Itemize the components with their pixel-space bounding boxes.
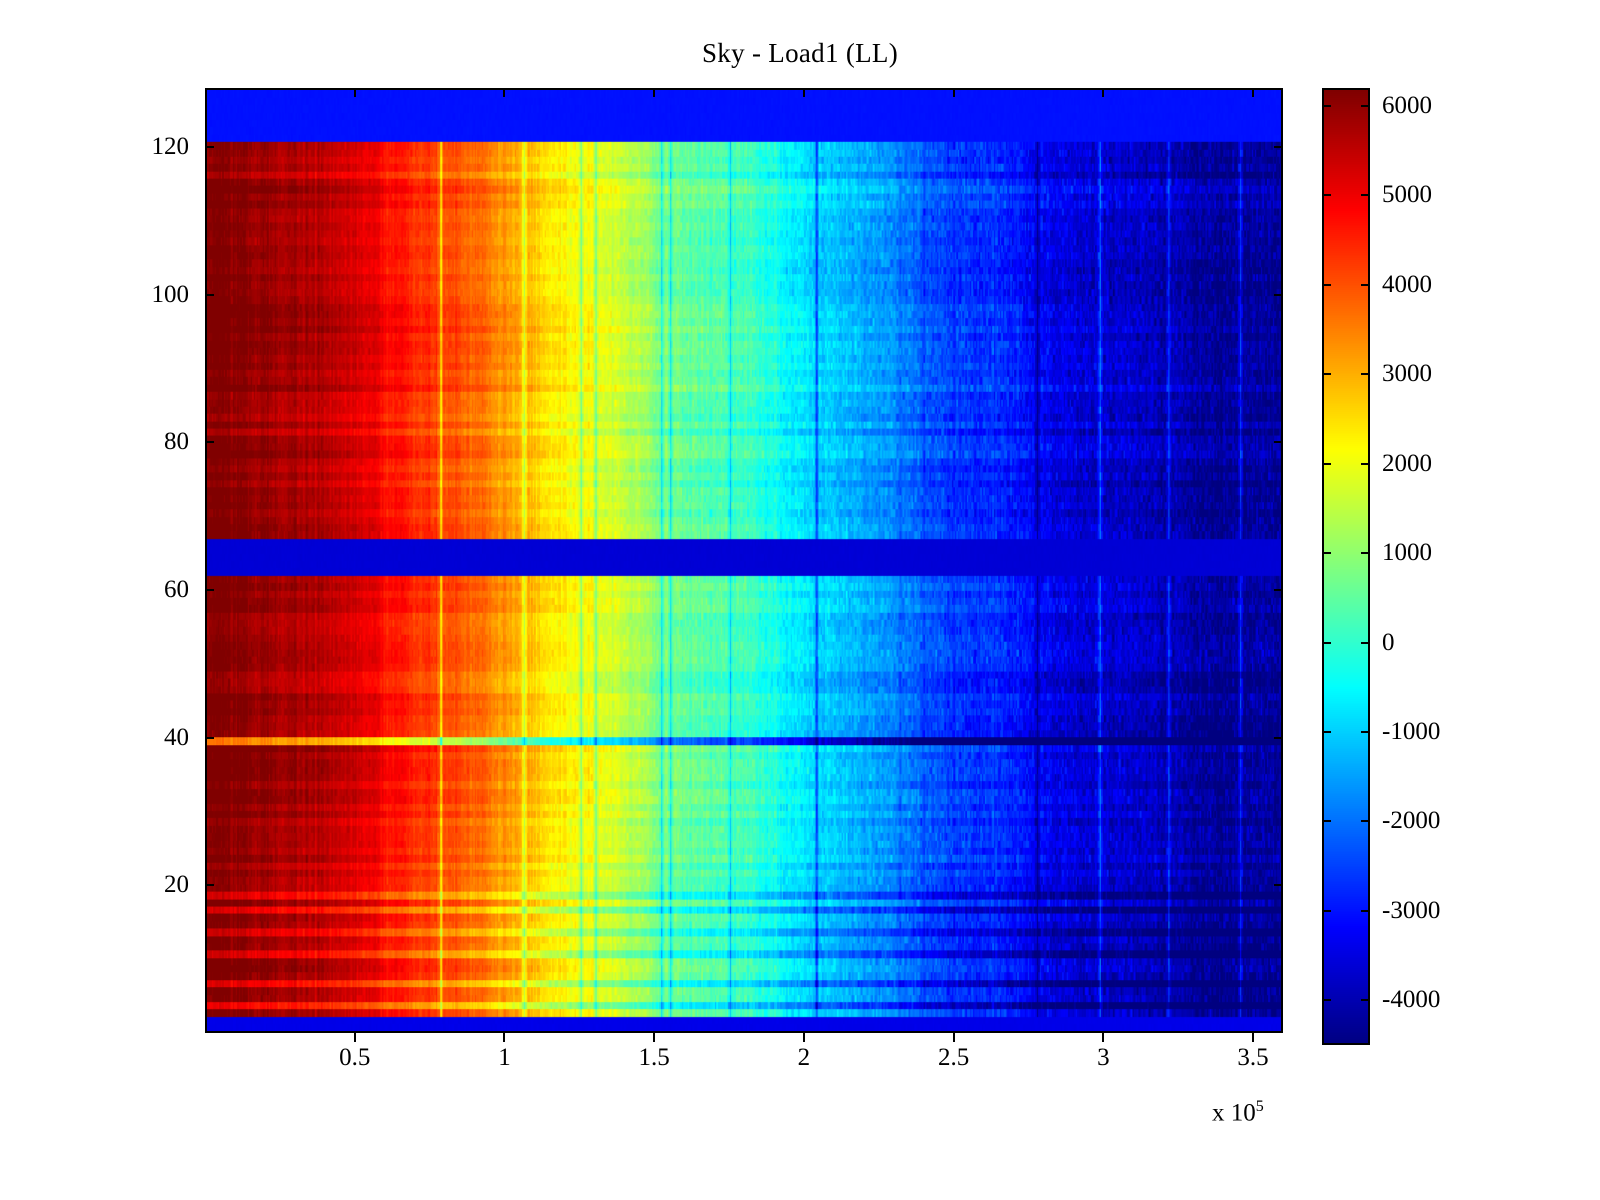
colorbar-tick-mark xyxy=(1322,910,1331,912)
colorbar-tick-label: 3000 xyxy=(1382,360,1432,388)
x-axis-tick-label: 2 xyxy=(744,1044,864,1072)
colorbar-tick-mark xyxy=(1322,194,1331,196)
colorbar-tick-label: -2000 xyxy=(1382,807,1440,835)
colorbar-tick-mark-right xyxy=(1361,373,1370,375)
y-axis-tick-label: 40 xyxy=(125,724,189,752)
y-axis-tick-label: 20 xyxy=(125,871,189,899)
x-axis-tick-label: 3.5 xyxy=(1193,1044,1313,1072)
colorbar-tick-label: 0 xyxy=(1382,629,1395,657)
y-axis-tick-mark-right xyxy=(1274,884,1283,886)
colorbar-tick-mark-right xyxy=(1361,731,1370,733)
y-axis-tick-mark xyxy=(205,441,214,443)
colorbar-tick-mark-right xyxy=(1361,999,1370,1001)
x-axis-tick-mark-top xyxy=(503,88,505,97)
colorbar-tick-mark-right xyxy=(1361,642,1370,644)
x-axis-exponent: x 105 xyxy=(1212,1098,1264,1127)
colorbar[interactable] xyxy=(1322,88,1370,1045)
x-axis-tick-mark xyxy=(1252,1033,1254,1042)
colorbar-tick-label: 6000 xyxy=(1382,92,1432,120)
x-axis-exponent-power: 5 xyxy=(1256,1098,1264,1115)
y-axis-tick-mark xyxy=(205,294,214,296)
colorbar-tick-mark-right xyxy=(1361,284,1370,286)
x-axis-tick-mark-top xyxy=(953,88,955,97)
y-axis-tick-mark xyxy=(205,589,214,591)
x-axis-tick-mark xyxy=(503,1033,505,1042)
colorbar-tick-mark xyxy=(1322,999,1331,1001)
colorbar-tick-mark xyxy=(1322,105,1331,107)
y-axis-tick-mark-right xyxy=(1274,737,1283,739)
y-axis-tick-label: 100 xyxy=(125,281,189,309)
x-axis-tick-label: 2.5 xyxy=(894,1044,1014,1072)
x-axis-tick-mark xyxy=(1102,1033,1104,1042)
x-axis-exponent-prefix: x 10 xyxy=(1212,1099,1256,1126)
colorbar-tick-mark xyxy=(1322,820,1331,822)
y-axis-tick-mark xyxy=(205,146,214,148)
x-axis-tick-mark-top xyxy=(354,88,356,97)
y-axis-tick-mark-right xyxy=(1274,441,1283,443)
colorbar-tick-label: 4000 xyxy=(1382,271,1432,299)
colorbar-tick-mark-right xyxy=(1361,552,1370,554)
colorbar-tick-mark-right xyxy=(1361,105,1370,107)
colorbar-tick-mark xyxy=(1322,463,1331,465)
colorbar-tick-mark xyxy=(1322,284,1331,286)
x-axis-tick-mark xyxy=(803,1033,805,1042)
x-axis-tick-mark-top xyxy=(1102,88,1104,97)
colorbar-tick-mark-right xyxy=(1361,194,1370,196)
x-axis-tick-mark-top xyxy=(803,88,805,97)
colorbar-tick-label: -1000 xyxy=(1382,718,1440,746)
colorbar-gradient xyxy=(1324,90,1370,1045)
y-axis-tick-label: 80 xyxy=(125,428,189,456)
y-axis-tick-mark-right xyxy=(1274,589,1283,591)
colorbar-tick-mark-right xyxy=(1361,463,1370,465)
colorbar-tick-label: -3000 xyxy=(1382,897,1440,925)
page-title: Sky - Load1 (LL) xyxy=(0,38,1600,69)
y-axis-tick-label: 120 xyxy=(125,133,189,161)
x-axis-tick-label: 1 xyxy=(444,1044,564,1072)
y-axis-tick-mark xyxy=(205,884,214,886)
colorbar-tick-mark xyxy=(1322,731,1331,733)
y-axis-tick-mark-right xyxy=(1274,294,1283,296)
colorbar-tick-label: 1000 xyxy=(1382,539,1432,567)
colorbar-tick-label: -4000 xyxy=(1382,986,1440,1014)
heatmap-image xyxy=(207,90,1281,1031)
x-axis-tick-label: 0.5 xyxy=(295,1044,415,1072)
x-axis-tick-mark xyxy=(653,1033,655,1042)
y-axis-tick-mark-right xyxy=(1274,146,1283,148)
heatmap-axes[interactable] xyxy=(205,88,1283,1033)
x-axis-tick-mark-top xyxy=(1252,88,1254,97)
x-axis-tick-mark-top xyxy=(653,88,655,97)
x-axis-tick-mark xyxy=(953,1033,955,1042)
y-axis-tick-mark xyxy=(205,737,214,739)
colorbar-tick-label: 5000 xyxy=(1382,181,1432,209)
y-axis-tick-label: 60 xyxy=(125,576,189,604)
colorbar-tick-mark-right xyxy=(1361,820,1370,822)
x-axis-tick-mark xyxy=(354,1033,356,1042)
colorbar-tick-label: 2000 xyxy=(1382,450,1432,478)
x-axis-tick-label: 1.5 xyxy=(594,1044,714,1072)
colorbar-tick-mark xyxy=(1322,373,1331,375)
colorbar-tick-mark-right xyxy=(1361,910,1370,912)
colorbar-tick-mark xyxy=(1322,642,1331,644)
colorbar-tick-mark xyxy=(1322,552,1331,554)
x-axis-tick-label: 3 xyxy=(1043,1044,1163,1072)
figure-canvas: Sky - Load1 (LL) 20406080100120 0.511.52… xyxy=(0,0,1600,1200)
